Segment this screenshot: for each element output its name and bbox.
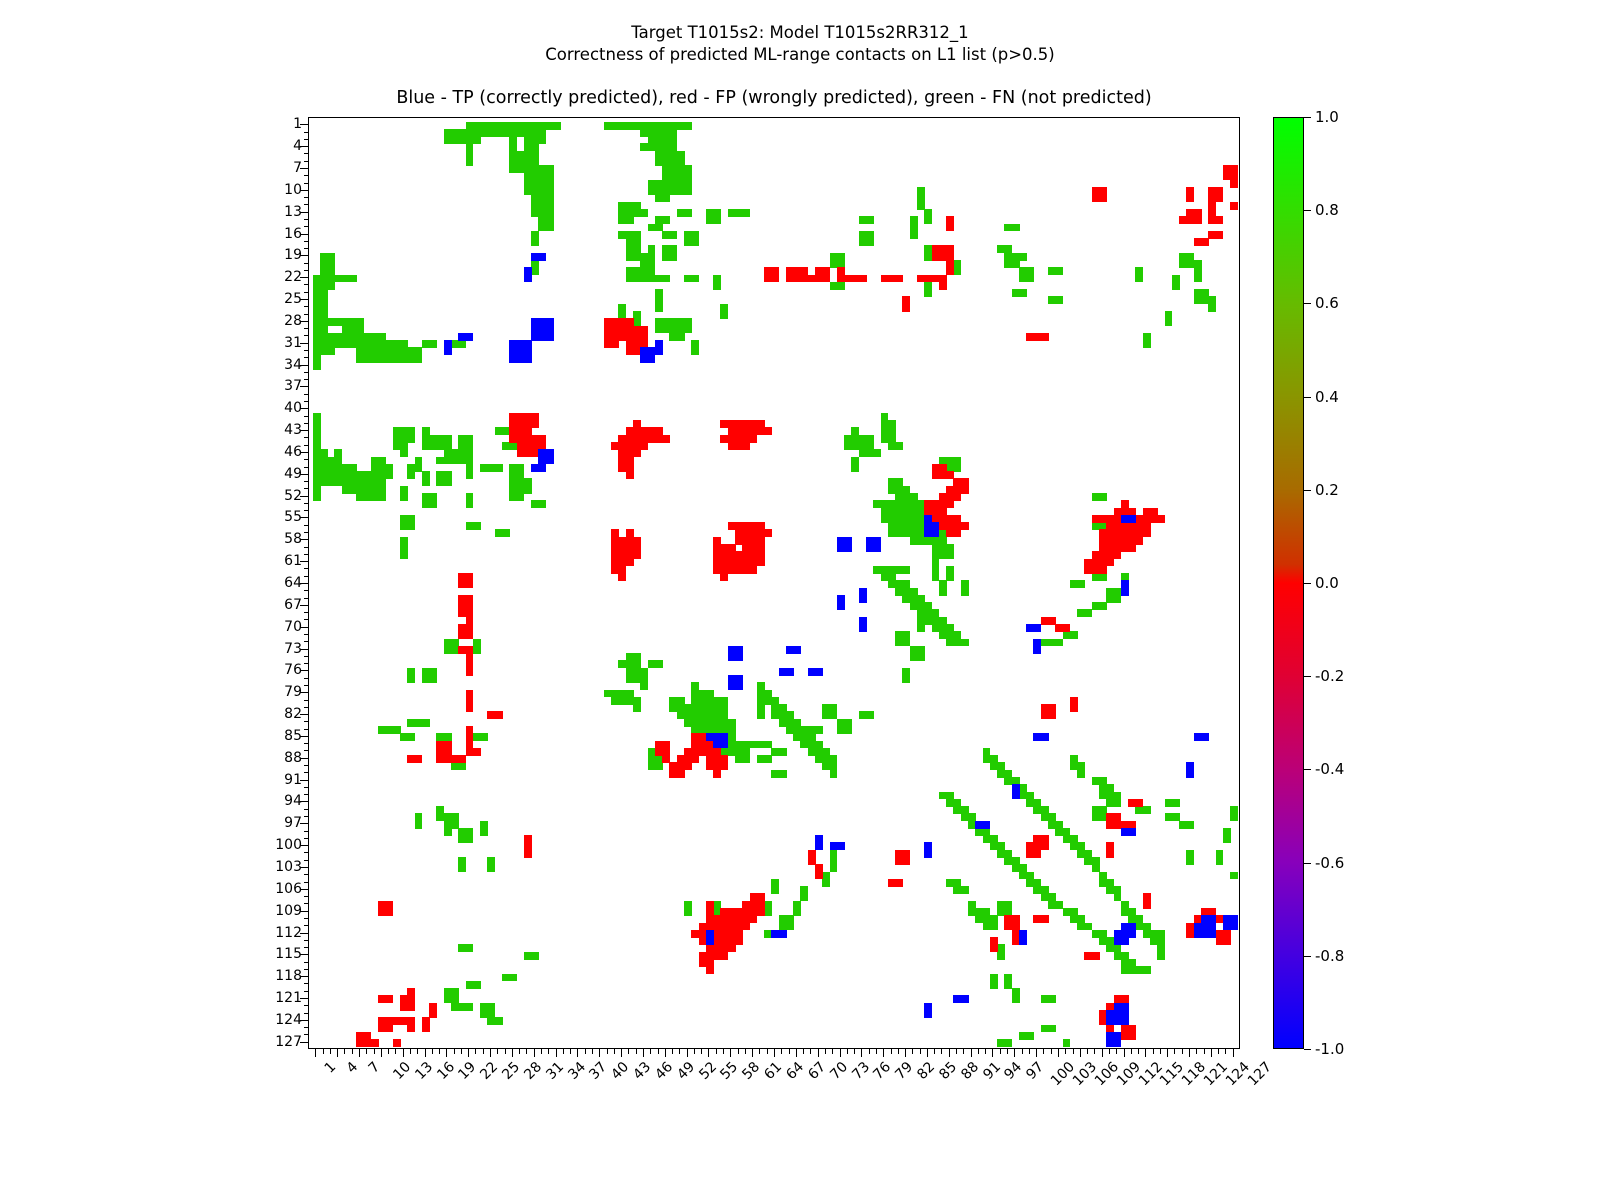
x-tick <box>1160 1049 1161 1054</box>
contact-cell-fn <box>473 981 481 989</box>
x-tick <box>810 1049 811 1054</box>
contact-cell-fn <box>924 289 932 297</box>
contact-cell-fn <box>436 478 444 486</box>
x-tick <box>738 1049 739 1054</box>
x-tick <box>876 1049 877 1054</box>
x-tick <box>614 1049 615 1054</box>
x-tick <box>832 1049 833 1054</box>
contact-cell-fn <box>866 238 874 246</box>
contact-cell-fp <box>1070 704 1078 712</box>
contact-cell-fn <box>691 238 699 246</box>
contact-cell-fn <box>1194 275 1202 283</box>
contact-cell-fp <box>1223 937 1231 945</box>
contact-cell-fp <box>990 944 998 952</box>
contact-cell-fp <box>757 901 765 909</box>
contact-cell-tp <box>1201 733 1209 741</box>
contact-cell-fn <box>902 566 910 574</box>
contact-cell-fn <box>648 267 656 275</box>
contact-cell-fp <box>1157 515 1165 523</box>
colorbar-tick <box>1304 397 1311 398</box>
contact-cell-fp <box>407 1025 415 1033</box>
contact-cell-fn <box>895 442 903 450</box>
contact-cell-fn <box>684 187 692 195</box>
contact-cell-tp <box>538 253 546 261</box>
contact-cell-fp <box>720 573 728 581</box>
colorbar-tick <box>1304 210 1311 211</box>
contact-cell-fn <box>1143 806 1151 814</box>
contact-cell-fp <box>466 748 474 756</box>
contact-cell-fn <box>1143 340 1151 348</box>
contact-cell-fn <box>939 588 947 596</box>
y-axis-tick-label: 70 <box>284 622 302 632</box>
y-axis-tick-label: 16 <box>284 229 302 239</box>
contact-cell-fp <box>385 1025 393 1033</box>
x-axis-tick-label: 1 <box>322 1059 340 1077</box>
x-axis-tick-label: 28 <box>521 1059 545 1083</box>
y-axis-tick-label: 121 <box>275 993 302 1003</box>
x-tick <box>701 1049 702 1054</box>
contact-cell-tp <box>1012 792 1020 800</box>
contact-cell-fn <box>429 675 437 683</box>
contact-cell-fn <box>407 733 415 741</box>
contact-cell-fn <box>473 646 481 654</box>
contact-cell-fn <box>1084 609 1092 617</box>
contact-cell-fp <box>1128 1032 1136 1040</box>
contact-cell-fn <box>466 835 474 843</box>
contact-cell-fn <box>720 311 728 319</box>
contact-cell-fn <box>815 726 823 734</box>
contact-cell-tp <box>924 522 932 530</box>
contact-cell-fn <box>1208 304 1216 312</box>
contact-cell-fn <box>1172 282 1180 290</box>
contact-cell-tp <box>961 995 969 1003</box>
y-axis-tick-label: 118 <box>275 971 302 981</box>
x-tick <box>1007 1049 1008 1054</box>
contact-cell-fn <box>779 770 787 778</box>
contact-cell-fp <box>895 879 903 887</box>
contact-cell-fp <box>618 573 626 581</box>
contact-cell-fp <box>633 551 641 559</box>
x-tick <box>854 1049 855 1054</box>
contact-cell-tp <box>932 529 940 537</box>
contact-cell-fp <box>1143 901 1151 909</box>
contact-cell-fp <box>939 282 947 290</box>
contact-cell-fn <box>764 908 772 916</box>
x-axis-tick-label: 127 <box>1245 1059 1275 1089</box>
x-tick <box>978 1049 979 1054</box>
x-tick <box>607 1049 608 1054</box>
x-tick <box>461 1049 462 1054</box>
contact-cell-tp <box>859 624 867 632</box>
contact-cell-fp <box>473 748 481 756</box>
contact-cell-fn <box>990 923 998 931</box>
contact-cell-fp <box>1063 624 1071 632</box>
contact-cell-fn <box>669 253 677 261</box>
contact-cell-fp <box>750 915 758 923</box>
contact-cell-tp <box>1041 733 1049 741</box>
contact-cell-fn <box>1026 275 1034 283</box>
colorbar-tick-label: 0.8 <box>1315 205 1339 215</box>
contact-cell-fp <box>953 493 961 501</box>
contact-cell-fn <box>327 282 335 290</box>
colorbar-tick-label: -0.8 <box>1315 951 1344 961</box>
x-tick <box>1109 1049 1110 1054</box>
contact-cell-tp <box>524 275 532 283</box>
contact-cell-fn <box>793 908 801 916</box>
x-axis-labels: 1471013161922252831343740434649525558616… <box>0 1055 1400 1145</box>
contact-cell-fn <box>466 500 474 508</box>
x-axis-tick-label: 7 <box>366 1059 384 1077</box>
contact-cell-fn <box>669 231 677 239</box>
contact-cell-fn <box>1099 602 1107 610</box>
contact-cell-fn <box>640 682 648 690</box>
colorbar <box>1273 117 1304 1049</box>
contact-cell-fn <box>1070 631 1078 639</box>
y-axis-tick-label: 4 <box>293 141 302 151</box>
x-tick <box>592 1049 593 1054</box>
x-tick <box>585 1049 586 1054</box>
x-tick <box>352 1049 353 1054</box>
contact-cell-fp <box>495 711 503 719</box>
contact-cell-fn <box>655 224 663 232</box>
contact-cell-fp <box>728 944 736 952</box>
contact-cell-fn <box>1026 1032 1034 1040</box>
x-tick <box>1153 1049 1154 1054</box>
contact-cell-fn <box>444 478 452 486</box>
contact-cell-fn <box>662 194 670 202</box>
contact-cell-fn <box>1143 966 1151 974</box>
contact-cell-fn <box>800 893 808 901</box>
contact-cell-fp <box>815 872 823 880</box>
y-axis-tick-label: 31 <box>284 338 302 348</box>
contact-cell-tp <box>793 646 801 654</box>
contact-cell-fp <box>415 755 423 763</box>
contact-cell-fn <box>1157 952 1165 960</box>
contact-cell-fp <box>735 937 743 945</box>
x-tick <box>759 1049 760 1054</box>
y-axis-tick-label: 94 <box>284 796 302 806</box>
contact-cell-fp <box>946 224 954 232</box>
contact-cell-fp <box>626 559 634 567</box>
contact-cell-fn <box>538 136 546 144</box>
contact-cell-fn <box>902 675 910 683</box>
contact-cell-fp <box>422 1025 430 1033</box>
contact-cell-fn <box>509 974 517 982</box>
contact-cell-fp <box>932 471 940 479</box>
contact-cell-fp <box>859 275 867 283</box>
contact-cell-fn <box>1004 1039 1012 1047</box>
contact-cell-fn <box>1223 835 1231 843</box>
contact-cell-fn <box>553 122 561 130</box>
contact-cell-fp <box>837 275 845 283</box>
contact-cell-fn <box>691 347 699 355</box>
y-axis-tick-label: 19 <box>284 250 302 260</box>
contact-cell-fn <box>487 864 495 872</box>
contact-cell-fn <box>400 449 408 457</box>
contact-cell-fp <box>1114 551 1122 559</box>
colorbar-tick-label: 0.4 <box>1315 392 1339 402</box>
contact-cell-fn <box>764 755 772 763</box>
contact-cell-tp <box>444 347 452 355</box>
y-axis-tick-label: 103 <box>275 862 302 872</box>
contact-cell-fn <box>830 864 838 872</box>
contact-cell-fp <box>662 755 670 763</box>
contact-cell-fn <box>429 500 437 508</box>
x-tick <box>454 1049 455 1054</box>
contact-cell-fp <box>517 435 525 443</box>
x-tick <box>323 1049 324 1054</box>
contact-cell-fp <box>429 1010 437 1018</box>
contact-cell-fn <box>1135 275 1143 283</box>
x-tick <box>963 1049 964 1054</box>
contact-cell-tp <box>1128 828 1136 836</box>
contact-cell-fn <box>1172 799 1180 807</box>
contact-cell-fp <box>1128 544 1136 552</box>
contact-cell-fn <box>633 202 641 210</box>
contact-cell-fn <box>990 981 998 989</box>
x-tick <box>1065 1049 1066 1054</box>
contact-cell-fn <box>669 245 677 253</box>
contact-cell-fp <box>1135 537 1143 545</box>
x-tick <box>912 1049 913 1054</box>
y-axis-tick-label: 28 <box>284 316 302 326</box>
contact-cell-fn <box>495 464 503 472</box>
contact-cell-fn <box>429 442 437 450</box>
x-axis-tick-label: 88 <box>958 1059 982 1083</box>
contact-cell-fn <box>1077 580 1085 588</box>
contact-cell-tp <box>1106 1017 1114 1025</box>
contact-cell-fn <box>327 347 335 355</box>
contact-cell-fn <box>466 158 474 166</box>
y-axis-tick-label: 85 <box>284 731 302 741</box>
contact-cell-fp <box>385 908 393 916</box>
y-axis-tick-label: 58 <box>284 534 302 544</box>
contact-cell-fn <box>1099 573 1107 581</box>
contact-cell-fn <box>1055 639 1063 647</box>
contact-cell-fp <box>677 770 685 778</box>
colorbar-tick-label: 1.0 <box>1315 112 1339 122</box>
contact-cell-fn <box>480 733 488 741</box>
colorbar-tick-label: -0.4 <box>1315 764 1344 774</box>
contact-cell-fp <box>626 340 634 348</box>
contact-cell-tp <box>1033 624 1041 632</box>
contact-cell-fn <box>684 122 692 130</box>
x-tick <box>1043 1049 1044 1054</box>
contact-map-plot <box>308 117 1240 1049</box>
contact-cell-fp <box>742 923 750 931</box>
contact-cell-fp <box>1201 238 1209 246</box>
x-tick <box>417 1049 418 1054</box>
x-tick <box>395 1049 396 1054</box>
contact-cell-fn <box>655 762 663 770</box>
contact-cell-tp <box>844 544 852 552</box>
contact-cell-tp <box>1230 923 1238 931</box>
contact-cell-fn <box>764 741 772 749</box>
contact-cell-fn <box>771 886 779 894</box>
x-tick <box>869 1049 870 1054</box>
x-tick <box>330 1049 331 1054</box>
contact-cell-tp <box>524 355 532 363</box>
contact-cell-fn <box>713 282 721 290</box>
contact-cell-fp <box>750 435 758 443</box>
y-axis-tick-label: 109 <box>275 906 302 916</box>
contact-cell-fn <box>385 471 393 479</box>
contact-cell-tp <box>859 595 867 603</box>
contact-cell-fp <box>1216 216 1224 224</box>
contact-cell-fn <box>1230 813 1238 821</box>
contact-cell-fn <box>997 952 1005 960</box>
contact-cell-fn <box>946 551 954 559</box>
x-tick <box>366 1049 367 1054</box>
y-axis-tick-label: 55 <box>284 512 302 522</box>
x-axis-tick-label: 10 <box>390 1059 414 1083</box>
x-tick <box>628 1049 629 1054</box>
contact-cell-fp <box>1230 180 1238 188</box>
contact-cell-fn <box>917 624 925 632</box>
contact-cell-fn <box>779 748 787 756</box>
x-tick <box>1000 1049 1001 1054</box>
x-axis-tick-label: 67 <box>805 1059 829 1083</box>
contact-cell-fn <box>429 340 437 348</box>
colorbar-labels: 1.00.80.60.40.20.0-0.2-0.4-0.6-0.8-1.0 <box>1304 117 1384 1049</box>
contact-cell-fn <box>1048 1025 1056 1033</box>
contact-cell-tp <box>648 355 656 363</box>
contact-cell-fn <box>932 573 940 581</box>
x-tick <box>694 1049 695 1054</box>
contact-cell-fn <box>786 923 794 931</box>
contact-cell-fp <box>524 850 532 858</box>
contact-cell-fn <box>451 136 459 144</box>
contact-cell-fn <box>1114 595 1122 603</box>
contact-cell-tp <box>837 602 845 610</box>
contact-cell-fn <box>407 675 415 683</box>
contact-cell-fp <box>902 857 910 865</box>
contact-cell-fn <box>961 588 969 596</box>
contact-cell-tp <box>1121 588 1129 596</box>
contact-cell-fp <box>1216 194 1224 202</box>
x-axis-tick-label: 22 <box>477 1059 501 1083</box>
contact-cell-tp <box>1208 915 1216 923</box>
contact-cell-fn <box>517 493 525 501</box>
contact-cell-tp <box>1208 930 1216 938</box>
contact-cell-fn <box>1055 267 1063 275</box>
contact-cell-fn <box>677 333 685 341</box>
y-axis-tick-label: 1 <box>293 119 302 129</box>
contact-cell-fn <box>655 304 663 312</box>
contact-cell-fp <box>757 908 765 916</box>
contact-cell-fp <box>1143 522 1151 530</box>
x-tick <box>497 1049 498 1054</box>
contact-cell-fn <box>684 326 692 334</box>
colorbar-tick-label: -0.6 <box>1315 858 1344 868</box>
contact-cell-fn <box>917 653 925 661</box>
contact-cell-fn <box>524 486 532 494</box>
contact-cell-fp <box>946 500 954 508</box>
colorbar-tick <box>1304 676 1311 677</box>
contact-cell-tp <box>720 741 728 749</box>
y-axis-tick-label: 25 <box>284 294 302 304</box>
colorbar-tick-label: 0.0 <box>1315 578 1339 588</box>
y-axis-tick-label: 97 <box>284 818 302 828</box>
y-axis-tick-label: 67 <box>284 600 302 610</box>
contact-cell-fp <box>771 275 779 283</box>
contact-cell-fn <box>953 464 961 472</box>
contact-cell-fn <box>400 493 408 501</box>
x-tick <box>898 1049 899 1054</box>
contact-cell-fp <box>662 435 670 443</box>
y-axis-tick-label: 88 <box>284 753 302 763</box>
contact-cell-fn <box>961 639 969 647</box>
y-axis-tick-label: 112 <box>275 928 302 938</box>
contact-cell-fn <box>480 828 488 836</box>
contact-cell-fn <box>400 551 408 559</box>
contact-cell-fp <box>1048 711 1056 719</box>
contact-cell-fn <box>640 209 648 217</box>
contact-cell-fn <box>742 209 750 217</box>
contact-cell-fp <box>611 340 619 348</box>
contact-cell-fn <box>873 449 881 457</box>
contact-cell-tp <box>786 668 794 676</box>
x-axis-tick-label: 70 <box>827 1059 851 1083</box>
contact-cell-fn <box>757 711 765 719</box>
x-tick <box>658 1049 659 1054</box>
contact-cell-tp <box>924 850 932 858</box>
contact-cell-fp <box>706 966 714 974</box>
contact-cell-fp <box>1135 799 1143 807</box>
contact-cell-fn <box>531 267 539 275</box>
x-tick <box>679 1049 680 1054</box>
contact-cell-fn <box>407 435 415 443</box>
x-tick <box>723 1049 724 1054</box>
contact-cell-fp <box>946 522 954 530</box>
colorbar-tick-label: 0.2 <box>1315 485 1339 495</box>
contact-cell-tp <box>815 842 823 850</box>
contact-cell-fp <box>1092 952 1100 960</box>
contact-cell-fn <box>924 216 932 224</box>
contact-cell-fn <box>684 209 692 217</box>
contact-cell-fp <box>764 427 772 435</box>
contact-cell-fp <box>371 1039 379 1047</box>
y-axis-tick-label: 34 <box>284 360 302 370</box>
colorbar-tick-label: -0.2 <box>1315 671 1344 681</box>
contact-cell-tp <box>983 821 991 829</box>
contact-cell-fp <box>822 275 830 283</box>
contact-cell-fn <box>313 493 321 501</box>
x-tick <box>344 1049 345 1054</box>
x-axis-tick-label: 61 <box>761 1059 785 1083</box>
contact-cell-fp <box>764 529 772 537</box>
y-axis-tick-label: 76 <box>284 665 302 675</box>
contact-cell-fn <box>902 639 910 647</box>
y-axis-tick-label: 127 <box>275 1037 302 1047</box>
x-axis-tick-label: 25 <box>499 1059 523 1083</box>
x-tick <box>636 1049 637 1054</box>
contact-cell-tp <box>546 457 554 465</box>
contact-cell-fn <box>458 340 466 348</box>
contact-cell-fn <box>1048 995 1056 1003</box>
contact-cell-fn <box>662 275 670 283</box>
contact-cell-fp <box>1033 850 1041 858</box>
contact-cell-tp <box>873 544 881 552</box>
contact-cell-fp <box>961 522 969 530</box>
x-tick <box>825 1049 826 1054</box>
contact-cell-fn <box>939 551 947 559</box>
contact-cell-tp <box>1121 1017 1129 1025</box>
x-tick <box>985 1049 986 1054</box>
x-axis-tick-label: 85 <box>936 1059 960 1083</box>
contact-cell-fp <box>1216 231 1224 239</box>
colorbar-tick <box>1304 490 1311 491</box>
